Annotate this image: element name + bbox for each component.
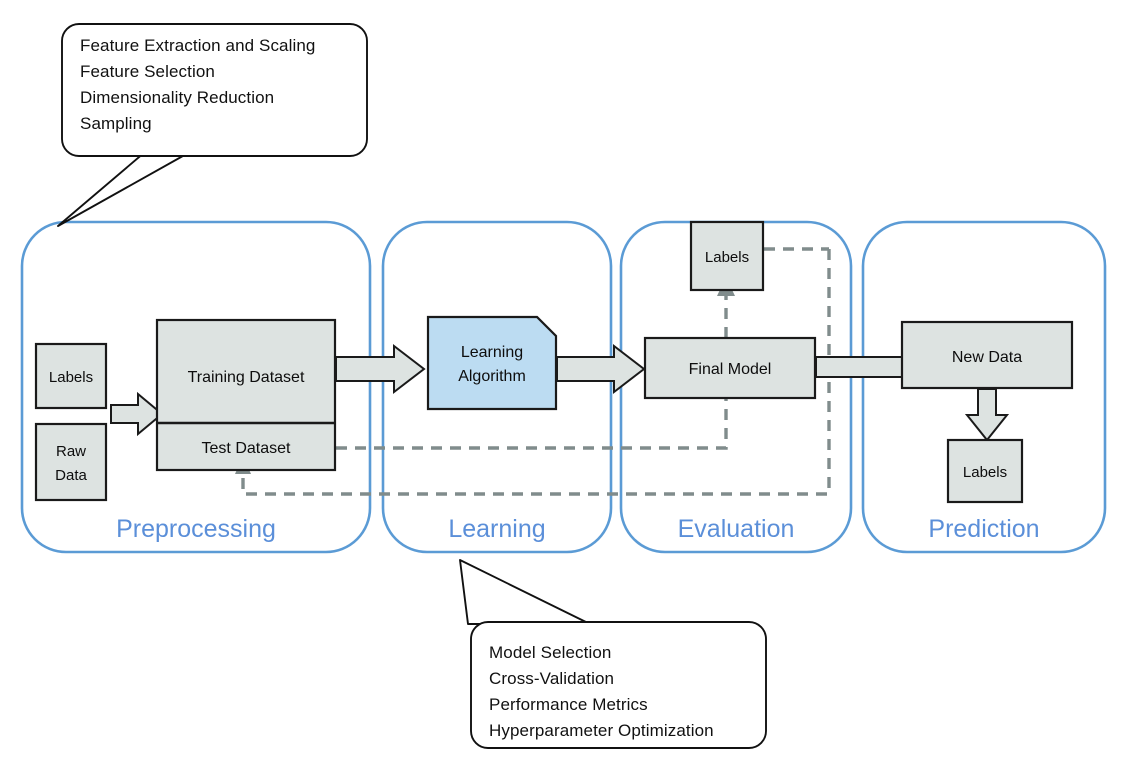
node-new-data[interactable]: New Data	[902, 322, 1072, 388]
final-model-label: Final Model	[689, 361, 772, 378]
diagram-canvas: Preprocessing Learning Evaluation Predic…	[0, 0, 1127, 759]
stage-label-learning: Learning	[448, 515, 545, 543]
callout-preprocessing-line-4: Sampling	[80, 114, 152, 133]
callout-preprocessing-steps[interactable]: Feature Extraction and Scaling Feature S…	[58, 24, 367, 226]
node-final-model[interactable]: Final Model	[645, 338, 815, 398]
raw-data-label-line2: Data	[55, 467, 87, 484]
eval-labels-label: Labels	[705, 249, 749, 266]
labels-input-label: Labels	[49, 369, 93, 386]
connector-final-model-to-new-data	[816, 357, 902, 377]
callout-learning-line-2: Cross-Validation	[489, 669, 614, 688]
new-data-label: New Data	[952, 349, 1022, 366]
callout-learning-steps[interactable]: Model Selection Cross-Validation Perform…	[460, 560, 766, 748]
callout-preprocessing-line-3: Dimensionality Reduction	[80, 88, 274, 107]
callout-learning-line-3: Performance Metrics	[489, 695, 648, 714]
predicted-labels-label: Labels	[963, 464, 1007, 481]
node-learning-algorithm[interactable]: Learning Algorithm	[428, 317, 556, 409]
stage-label-preprocessing: Preprocessing	[116, 515, 276, 543]
raw-data-box	[36, 424, 106, 500]
learning-algorithm-box	[428, 317, 556, 409]
test-dataset-label: Test Dataset	[202, 440, 291, 457]
node-raw-data[interactable]: Raw Data	[36, 424, 106, 500]
callout-preprocessing-line-1: Feature Extraction and Scaling	[80, 36, 315, 55]
node-predicted-labels[interactable]: Labels	[948, 440, 1022, 502]
callout-preprocessing-pointer	[58, 152, 190, 226]
node-dataset-stack[interactable]: Training Dataset Test Dataset	[157, 320, 335, 470]
training-dataset-label: Training Dataset	[188, 369, 305, 386]
callout-learning-line-4: Hyperparameter Optimization	[489, 721, 714, 740]
ml-workflow-diagram: Preprocessing Learning Evaluation Predic…	[0, 0, 1127, 759]
learning-algorithm-label-line2: Algorithm	[458, 368, 526, 385]
learning-algorithm-label-line1: Learning	[461, 344, 523, 361]
node-labels-input[interactable]: Labels	[36, 344, 106, 408]
raw-data-label-line1: Raw	[56, 443, 86, 460]
stage-label-evaluation: Evaluation	[678, 515, 795, 543]
stage-label-prediction: Prediction	[928, 515, 1039, 543]
callout-preprocessing-line-2: Feature Selection	[80, 62, 215, 81]
node-eval-labels[interactable]: Labels	[691, 222, 763, 290]
callout-learning-pointer	[460, 560, 590, 624]
callout-learning-line-1: Model Selection	[489, 643, 611, 662]
